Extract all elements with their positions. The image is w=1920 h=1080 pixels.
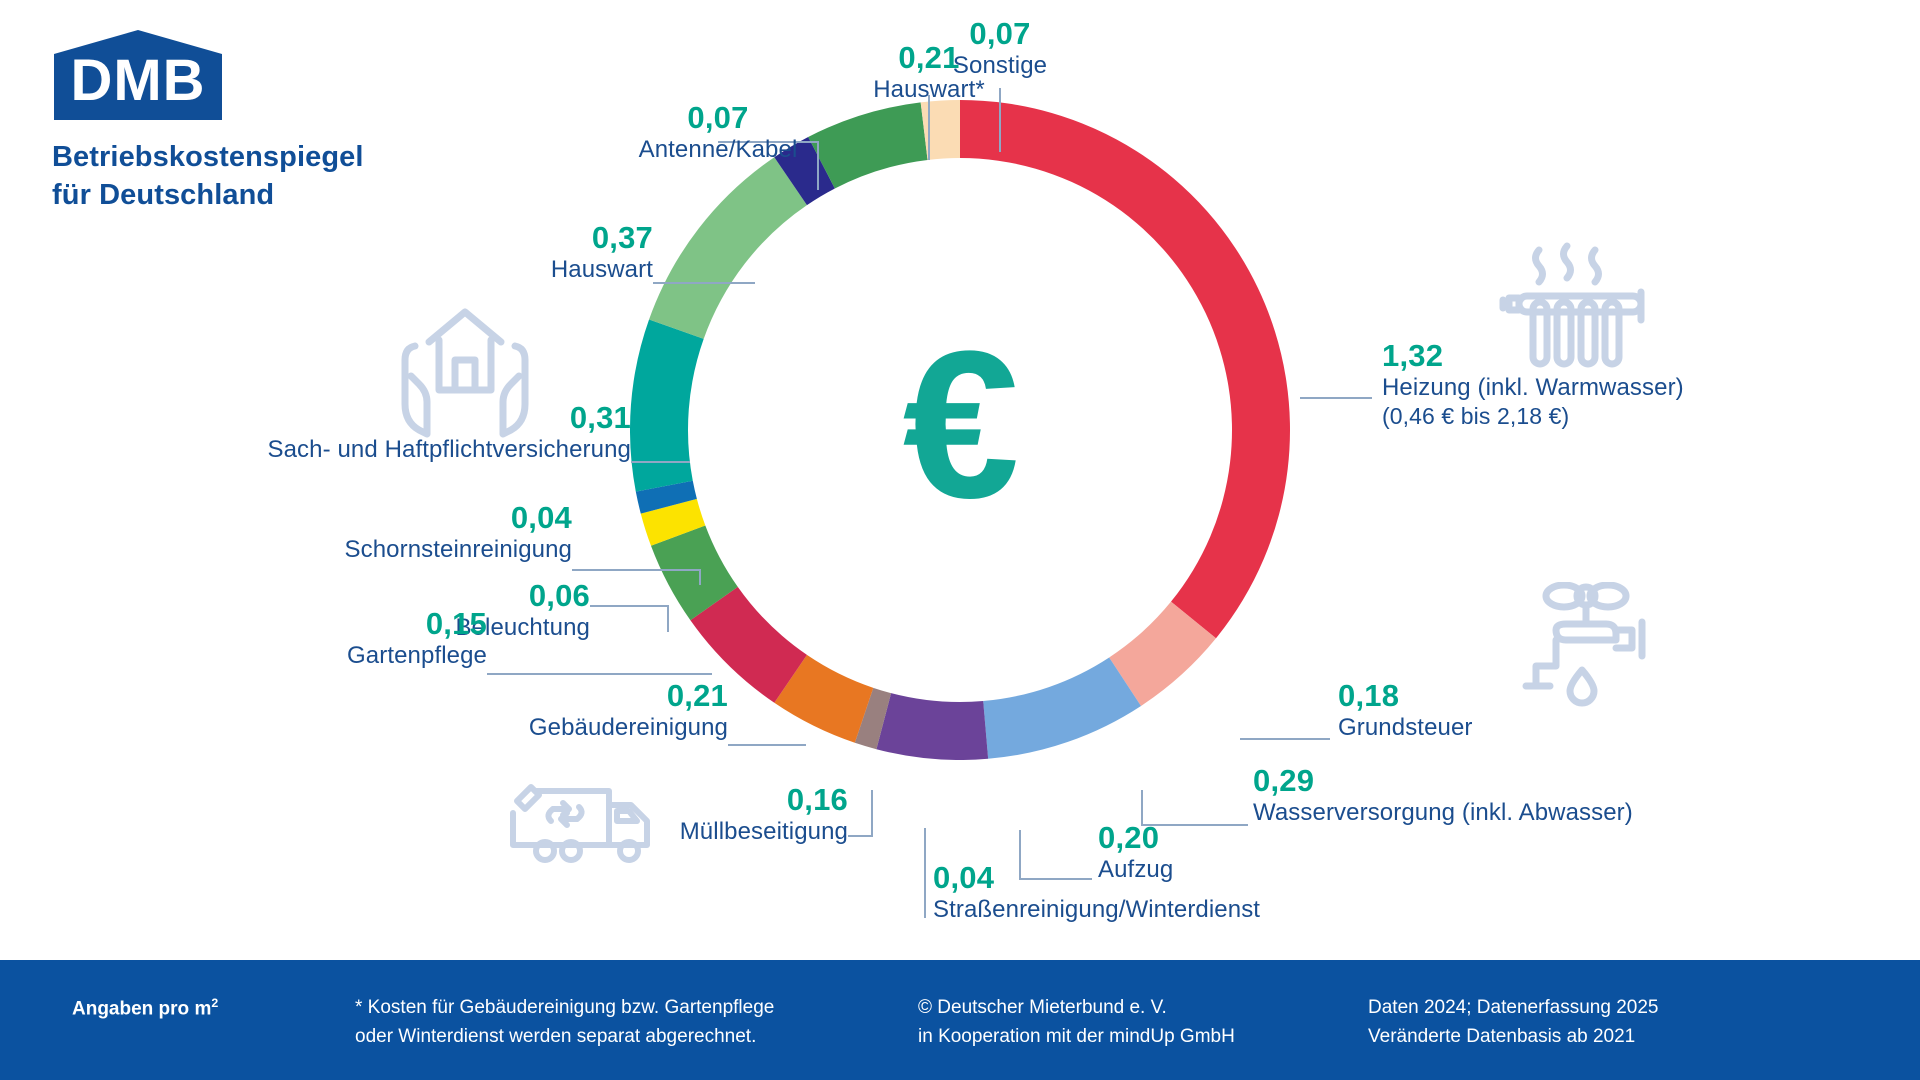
dmb-logo-icon: DMB (52, 30, 224, 122)
callout-sublabel: (0,46 € bis 2,18 €) (1382, 402, 1862, 430)
infographic-canvas: DMB Betriebskostenspiegel für Deutschlan… (0, 0, 1920, 1080)
callout-label: Hauswart* (805, 75, 1053, 104)
callout-antenne-kabel: 0,07 Antenne/Kabel (558, 102, 878, 164)
callout-value: 0,31 (131, 402, 631, 435)
dmb-logo-block: DMB Betriebskostenspiegel für Deutschlan… (52, 30, 472, 215)
callout-value: 0,37 (353, 222, 653, 255)
footer-unit-note-text: Angaben pro m (72, 998, 211, 1019)
callout-label: Sach- und Haftpflichtversicherung (131, 435, 631, 464)
callout-label: Schornsteinreinigung (192, 535, 572, 564)
callout-label: Grundsteuer (1338, 713, 1668, 742)
footer-unit-note-sup: 2 (211, 996, 218, 1010)
callout-value: 0,07 (558, 102, 878, 135)
footer-star-line2: oder Winterdienst werden separat abgerec… (355, 1023, 774, 1052)
callout-label: Straßenreinigung/Winterdienst (933, 895, 1363, 924)
logo-title-line1: Betriebskostenspiegel (52, 141, 364, 173)
callout-value: 0,21 (378, 680, 728, 713)
logo-title-line2: für Deutschland (52, 176, 472, 214)
callout-aufzug: 0,20 Aufzug (1098, 822, 1318, 884)
callout-value: 0,15 (207, 608, 487, 641)
callout-label: Heizung (inkl. Warmwasser) (1382, 373, 1862, 402)
callout-gartenpflege: 0,15 Gartenpflege (207, 608, 487, 670)
callout-hauswart-star: 0,21 Hauswart* (805, 42, 1053, 104)
callout-hauswart: 0,37 Hauswart (353, 222, 653, 284)
footer-data-line1: Daten 2024; Datenerfassung 2025 (1368, 994, 1659, 1023)
footer-data-source: Daten 2024; Datenerfassung 2025 Veränder… (1368, 994, 1659, 1051)
page-title: Betriebskostenspiegel für Deutschland (52, 138, 472, 215)
footer-unit-note: Angaben pro m2 (72, 994, 218, 1024)
callout-wasserversorgung: 0,29 Wasserversorgung (inkl. Abwasser) (1253, 765, 1713, 827)
euro-symbol: € (630, 100, 1290, 760)
house-in-hands-icon (385, 298, 545, 448)
callout-label: Antenne/Kabel (558, 135, 878, 164)
callout-value: 0,20 (1098, 822, 1318, 855)
svg-text:DMB: DMB (70, 48, 205, 113)
callout-sach-haftpflichtversicherung: 0,31 Sach- und Haftpflichtversicherung (131, 402, 631, 464)
callout-value: 0,04 (192, 502, 572, 535)
radiator-icon (1495, 242, 1670, 374)
callout-schornsteinreinigung: 0,04 Schornsteinreinigung (192, 502, 572, 564)
callout-label: Wasserversorgung (inkl. Abwasser) (1253, 798, 1713, 827)
callout-value: 0,21 (805, 42, 1053, 75)
callout-value: 0,29 (1253, 765, 1713, 798)
footer-star-line1: * Kosten für Gebäudereinigung bzw. Garte… (355, 994, 774, 1023)
callout-gebaeudereinigung: 0,21 Gebäudereinigung (378, 680, 728, 742)
callout-label: Aufzug (1098, 855, 1318, 884)
footer-data-line2: Veränderte Datenbasis ab 2021 (1368, 1023, 1659, 1052)
faucet-icon (1520, 582, 1660, 707)
footer-bar: Angaben pro m2 * Kosten für Gebäudereini… (0, 960, 1920, 1080)
garbage-truck-icon (505, 775, 655, 875)
callout-label: Hauswart (353, 255, 653, 284)
betriebskosten-donut-chart: € (630, 100, 1290, 760)
callout-label: Gebäudereinigung (378, 713, 728, 742)
footer-copyright: © Deutscher Mieterbund e. V. in Kooperat… (918, 994, 1235, 1051)
callout-label: Gartenpflege (207, 641, 487, 670)
footer-copyright-line1: © Deutscher Mieterbund e. V. (918, 994, 1235, 1023)
footer-copyright-line2: in Kooperation mit der mindUp GmbH (918, 1023, 1235, 1052)
footer-star-note: * Kosten für Gebäudereinigung bzw. Garte… (355, 994, 774, 1051)
